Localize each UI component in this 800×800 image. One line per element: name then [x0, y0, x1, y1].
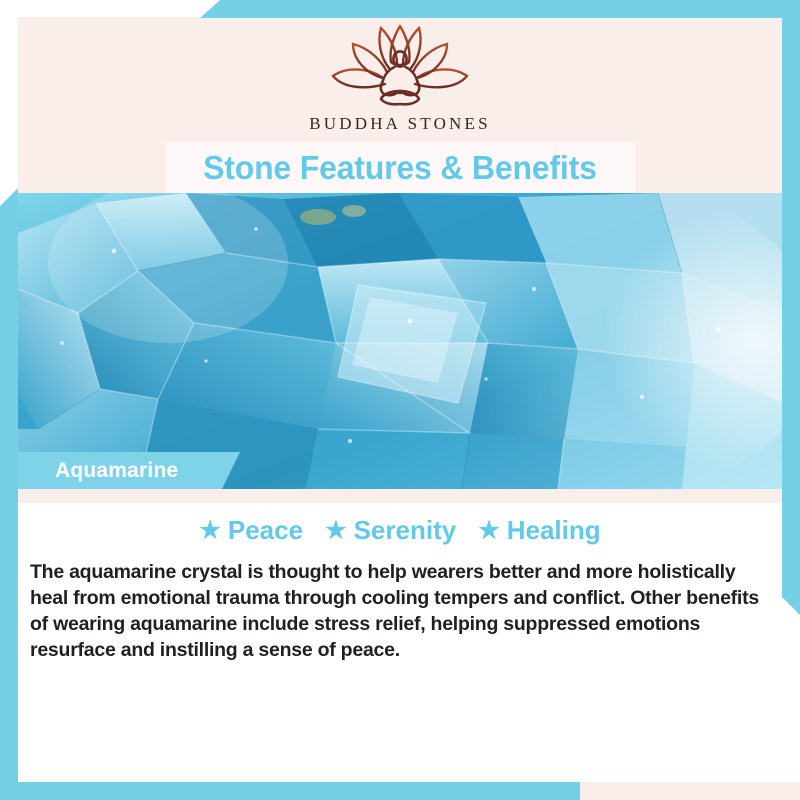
star-icon: ★ [199, 519, 221, 543]
keyword-label-peace: Peace [228, 515, 303, 546]
stone-name-label: Aquamarine [18, 459, 178, 483]
star-icon: ★ [478, 519, 500, 543]
lotus-meditation-icon [325, 22, 475, 110]
description-paragraph: The aquamarine crystal is thought to hel… [30, 560, 770, 664]
decorative-corner-cream [580, 782, 800, 800]
brand-name: BUDDHA STONES [0, 114, 800, 134]
keyword-item-peace: ★ Peace [199, 515, 303, 546]
keyword-label-healing: Healing [507, 515, 601, 546]
stone-name-tag: Aquamarine [18, 452, 240, 489]
decorative-band-left [0, 188, 18, 800]
keyword-list: ★ Peace ★ Serenity ★ Healing [18, 515, 782, 546]
keyword-item-serenity: ★ Serenity [325, 515, 456, 546]
stone-benefits-poster: BUDDHA STONES Stone Features & Benefits [0, 0, 800, 800]
keyword-label-serenity: Serenity [354, 515, 457, 546]
title-banner: Stone Features & Benefits [165, 142, 635, 193]
brand-logo: BUDDHA STONES [0, 22, 800, 134]
decorative-band-top [200, 0, 800, 18]
decorative-band-bottom [0, 782, 600, 800]
aquamarine-crystal-image [18, 193, 782, 489]
content-area: ★ Peace ★ Serenity ★ Healing The aquamar… [18, 503, 782, 782]
keyword-item-healing: ★ Healing [478, 515, 600, 546]
star-icon: ★ [325, 519, 347, 543]
page-title: Stone Features & Benefits [203, 149, 597, 187]
crystal-photo [18, 193, 782, 489]
section-divider [18, 489, 782, 503]
